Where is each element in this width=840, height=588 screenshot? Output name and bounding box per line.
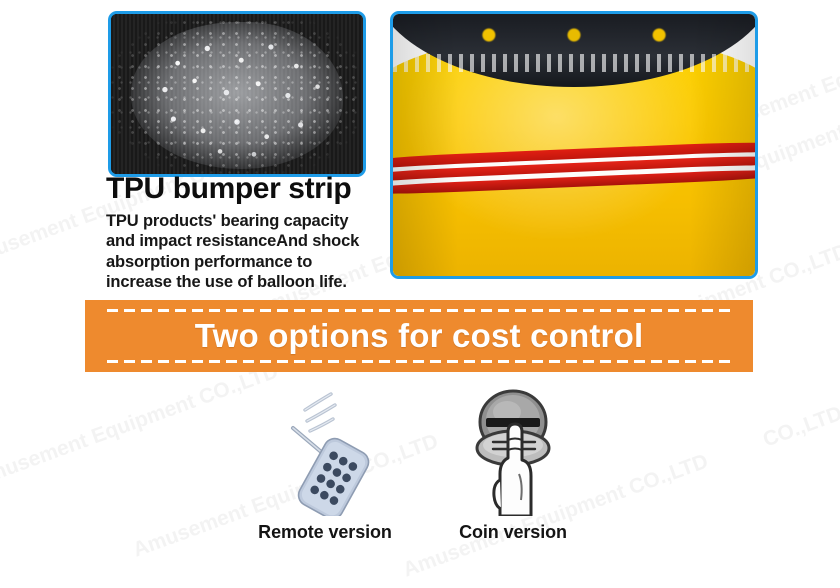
promo-page: Amusement Equipment CO.,LTD Amusement Eq… bbox=[0, 0, 840, 588]
options-row: Remote version bbox=[230, 388, 620, 578]
option-label: Coin version bbox=[428, 522, 598, 543]
bumper-strip-image bbox=[390, 11, 758, 279]
banner-title: Two options for cost control bbox=[85, 300, 753, 372]
feature-body-line: and impact resistanceAnd shock bbox=[106, 231, 374, 252]
option-remote-version[interactable]: Remote version bbox=[240, 388, 410, 543]
coin-slot-hand-icon bbox=[428, 388, 598, 516]
option-label: Remote version bbox=[240, 522, 410, 543]
feature-body-line: increase the use of balloon life. bbox=[106, 272, 374, 293]
feature-text-block: TPU bumper strip TPU products' bearing c… bbox=[106, 174, 374, 293]
tpu-granules-image bbox=[108, 11, 366, 177]
granules-speckle bbox=[111, 14, 363, 174]
bumper-shading bbox=[393, 14, 755, 276]
feature-body-line: TPU products' bearing capacity bbox=[106, 211, 374, 232]
section-banner: Two options for cost control bbox=[85, 300, 753, 372]
option-coin-version[interactable]: Coin version bbox=[428, 388, 598, 543]
feature-body-line: absorption performance to bbox=[106, 252, 374, 273]
remote-control-icon bbox=[240, 388, 410, 516]
bumper-canvas bbox=[393, 14, 755, 276]
page-title: TPU bumper strip bbox=[106, 174, 374, 205]
watermark-text: CO.,LTD bbox=[760, 402, 840, 453]
